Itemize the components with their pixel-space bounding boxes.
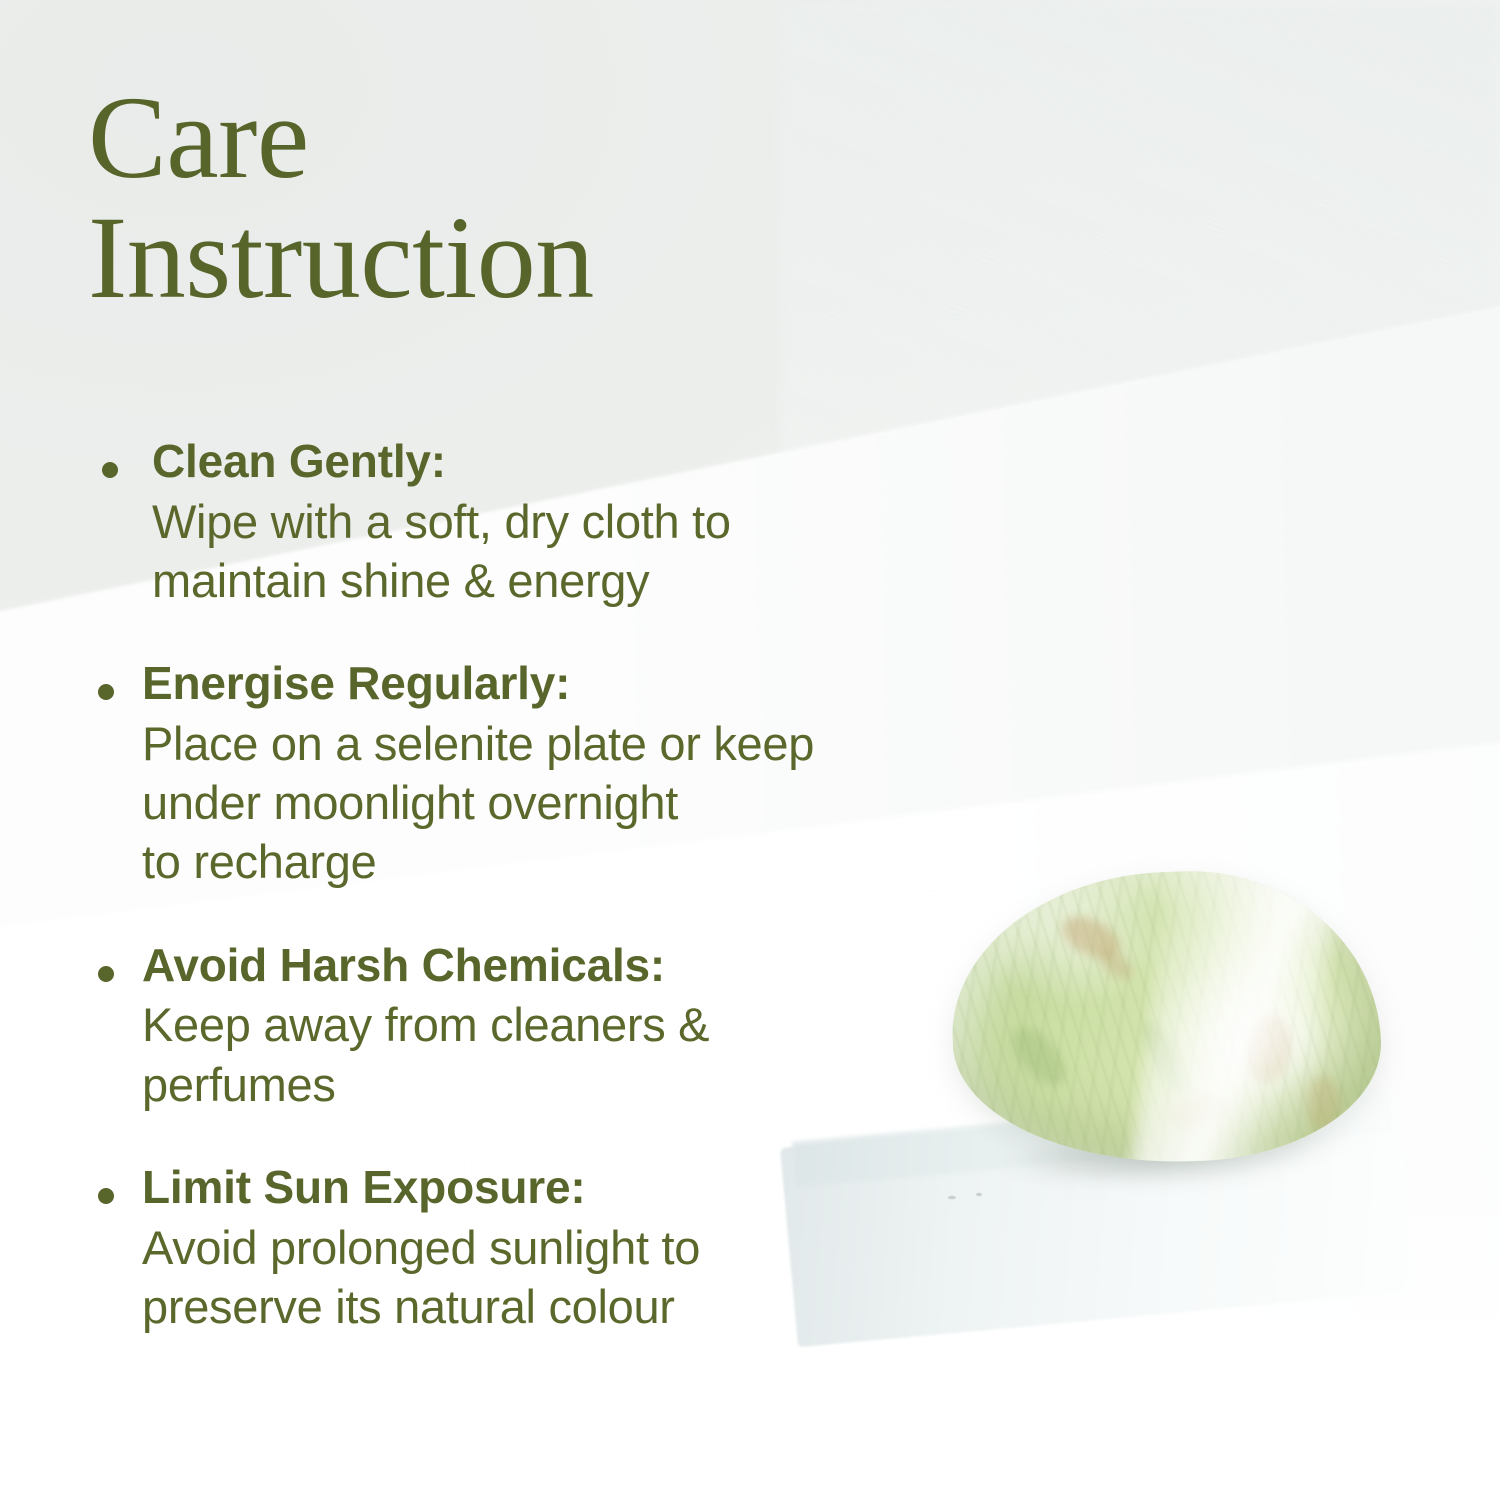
list-item-body: Avoid prolonged sunlight to preserve its…	[142, 1218, 1040, 1336]
stone-inclusion	[1135, 1016, 1197, 1102]
list-item-body: Keep away from cleaners & perfumes	[142, 995, 1040, 1113]
care-instruction-list: Clean Gently: Wipe with a soft, dry clot…	[80, 432, 1040, 1380]
stone-inclusion	[1238, 1010, 1295, 1087]
list-item: Energise Regularly: Place on a selenite …	[80, 654, 1040, 891]
stone-inclusion	[1094, 945, 1138, 985]
list-item: Clean Gently: Wipe with a soft, dry clot…	[80, 432, 1040, 610]
list-item-heading: Avoid Harsh Chemicals:	[142, 936, 1040, 996]
bullet-dot-icon	[102, 462, 118, 478]
list-item: Avoid Harsh Chemicals: Keep away from cl…	[80, 936, 1040, 1114]
list-item-heading: Energise Regularly:	[142, 654, 1040, 714]
bullet-dot-icon	[98, 684, 114, 700]
stone-inclusion	[1166, 1090, 1230, 1135]
stone-inclusion	[1056, 909, 1127, 967]
list-item-heading: Limit Sun Exposure:	[142, 1158, 1040, 1218]
bullet-dot-icon	[98, 1188, 114, 1204]
list-item-heading: Clean Gently:	[152, 432, 1040, 492]
list-item-body: Place on a selenite plate or keep under …	[142, 714, 1040, 892]
care-instruction-card: Care Instruction Clean Gently: Wipe with…	[0, 0, 1500, 1500]
bullet-dot-icon	[98, 966, 114, 982]
list-item-body: Wipe with a soft, dry cloth to maintain …	[152, 492, 1040, 610]
list-item: Limit Sun Exposure: Avoid prolonged sunl…	[80, 1158, 1040, 1336]
page-title: Care Instruction	[88, 78, 594, 319]
stone-inclusion	[1305, 1075, 1341, 1132]
